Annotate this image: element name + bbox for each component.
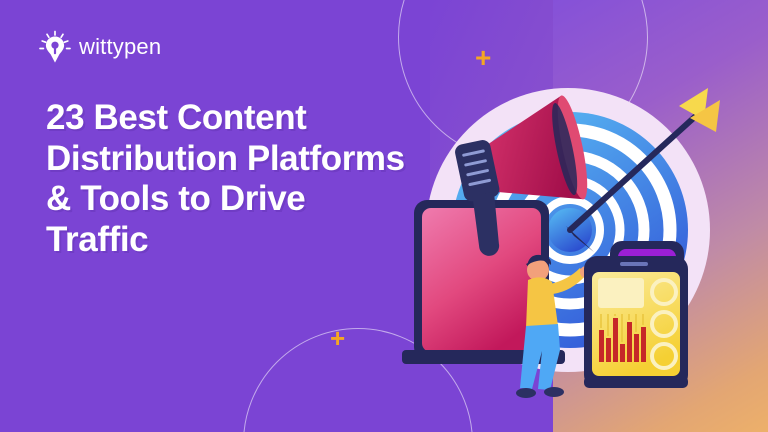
banner-canvas: + + wittypen 23 Best Content Dis	[0, 0, 768, 432]
brand-wordmark: wittypen	[79, 34, 161, 60]
plus-icon-bottom: +	[330, 325, 345, 351]
plus-icon-top: +	[475, 44, 491, 72]
content-distribution-illustration	[398, 78, 768, 378]
pen-lightbulb-icon	[38, 30, 72, 64]
brand-logo[interactable]: wittypen	[38, 30, 161, 64]
tablet-icon	[584, 256, 688, 388]
page-title: 23 Best Content Distribution Platforms &…	[46, 98, 406, 260]
